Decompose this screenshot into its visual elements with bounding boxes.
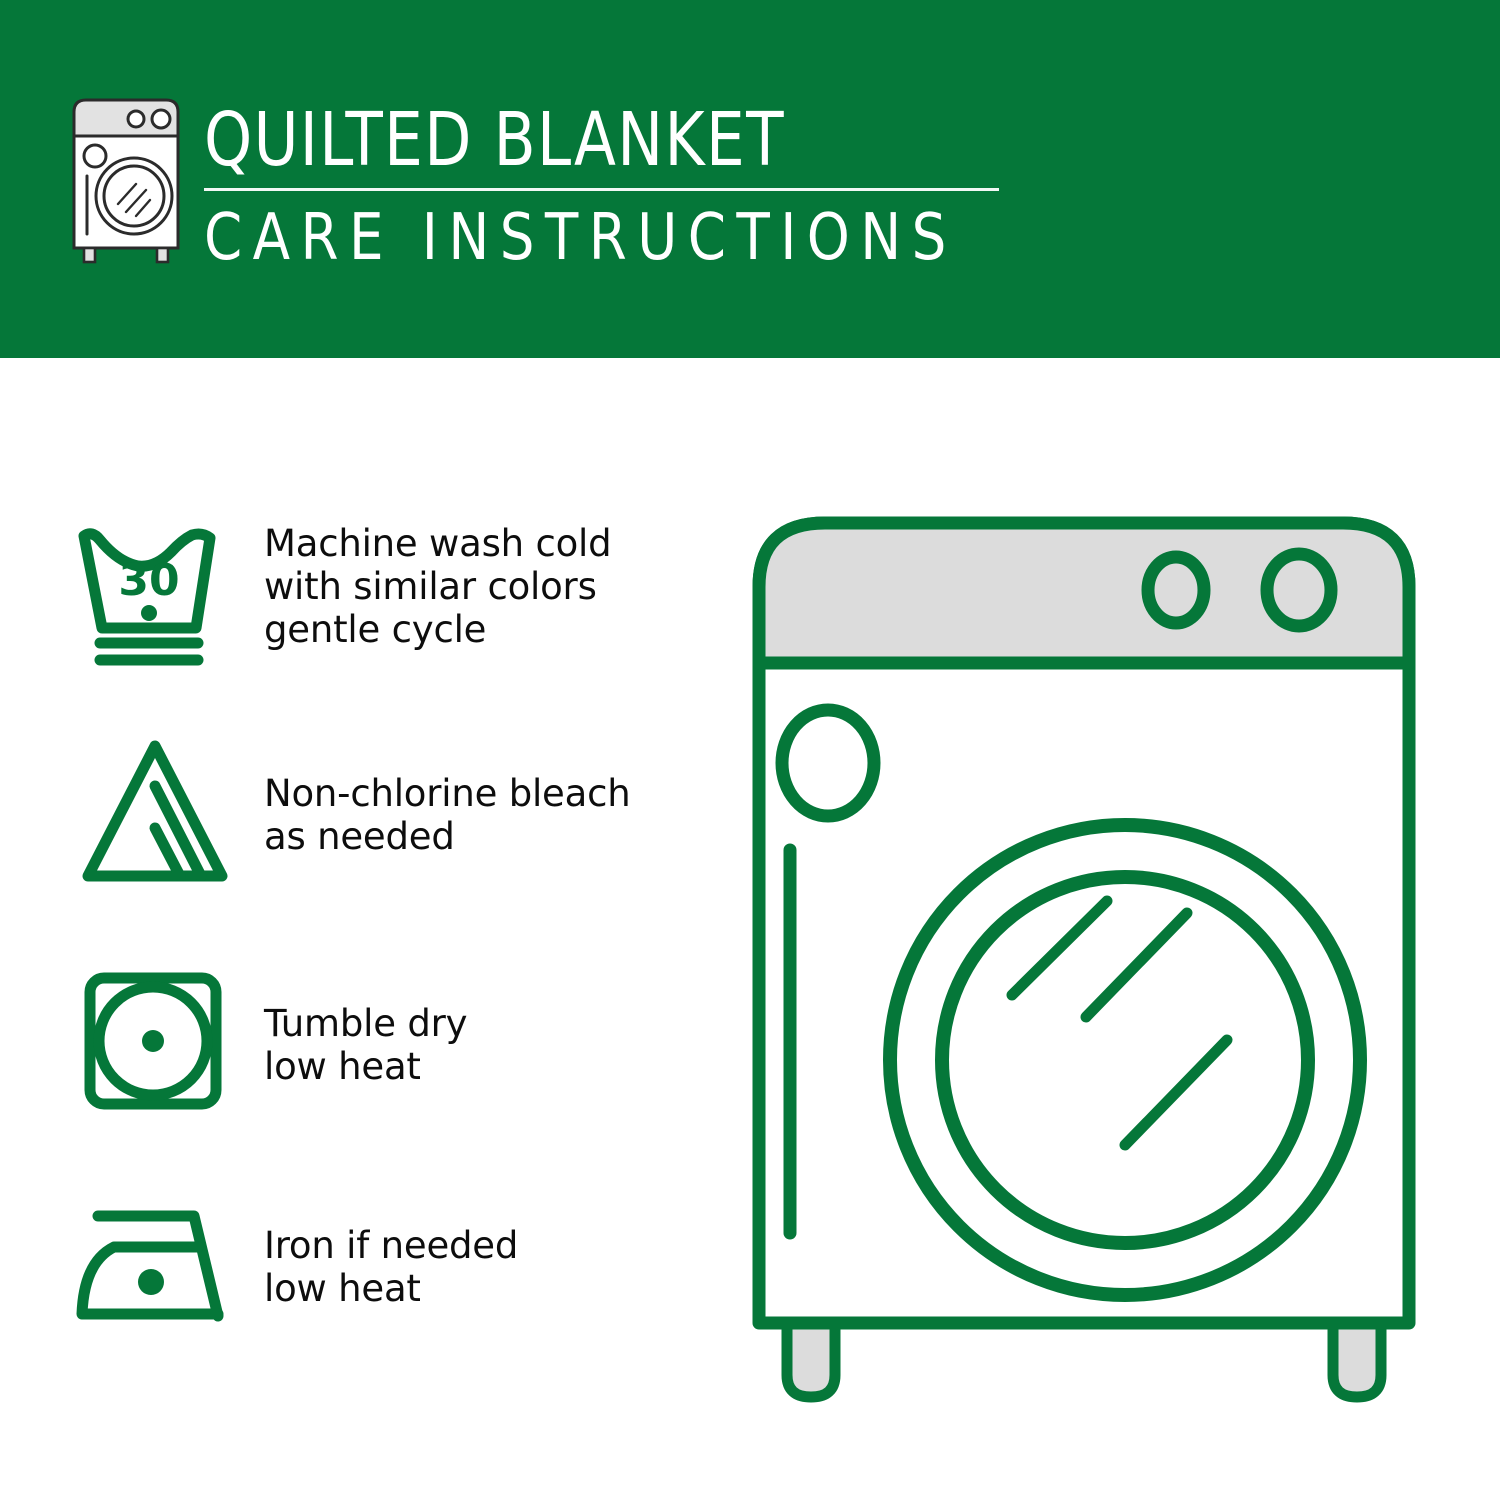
care-line-2: as needed xyxy=(264,815,631,858)
care-label-machine-wash: Machine wash cold with similar colors ge… xyxy=(264,500,611,651)
iron-low-heat-icon xyxy=(70,1184,240,1354)
title-divider xyxy=(204,188,999,191)
care-line-2: low heat xyxy=(264,1267,518,1310)
care-line-1: Non-chlorine bleach xyxy=(264,772,631,815)
non-chlorine-bleach-triangle-icon xyxy=(70,728,240,898)
front-load-washing-machine-illustration xyxy=(735,495,1455,1430)
page-subtitle: CARE INSTRUCTIONS xyxy=(204,203,959,273)
care-line-3: gentle cycle xyxy=(264,608,611,651)
washing-machine-icon xyxy=(62,96,190,264)
header-content: QUILTED BLANKET CARE INSTRUCTIONS xyxy=(62,96,999,273)
care-row-tumble-dry: Tumble dry low heat xyxy=(70,956,710,1184)
care-label-iron: Iron if needed low heat xyxy=(264,1184,518,1310)
care-label-tumble-dry: Tumble dry low heat xyxy=(264,956,467,1088)
care-row-machine-wash: 30 Machine wash cold with similar colors… xyxy=(70,500,710,728)
care-line-2: with similar colors xyxy=(264,565,611,608)
care-row-iron: Iron if needed low heat xyxy=(70,1184,710,1364)
tumble-dry-low-heat-icon xyxy=(70,956,240,1126)
page-title: QUILTED BLANKET xyxy=(204,100,935,180)
care-line-1: Machine wash cold xyxy=(264,522,611,565)
care-line-1: Iron if needed xyxy=(264,1224,518,1267)
wash-temperature-value: 30 xyxy=(118,555,179,606)
header-banner: QUILTED BLANKET CARE INSTRUCTIONS xyxy=(0,0,1500,358)
control-panel xyxy=(759,523,1409,663)
care-row-bleach: Non-chlorine bleach as needed xyxy=(70,728,710,956)
header-title-block: QUILTED BLANKET CARE INSTRUCTIONS xyxy=(204,96,999,273)
care-instructions-page: QUILTED BLANKET CARE INSTRUCTIONS xyxy=(0,0,1500,1500)
care-line-1: Tumble dry xyxy=(264,1002,467,1045)
care-instruction-list: 30 Machine wash cold with similar colors… xyxy=(70,500,710,1364)
care-line-2: low heat xyxy=(264,1045,467,1088)
care-label-bleach: Non-chlorine bleach as needed xyxy=(264,728,631,858)
machine-wash-30-gentle-icon: 30 xyxy=(70,500,240,670)
